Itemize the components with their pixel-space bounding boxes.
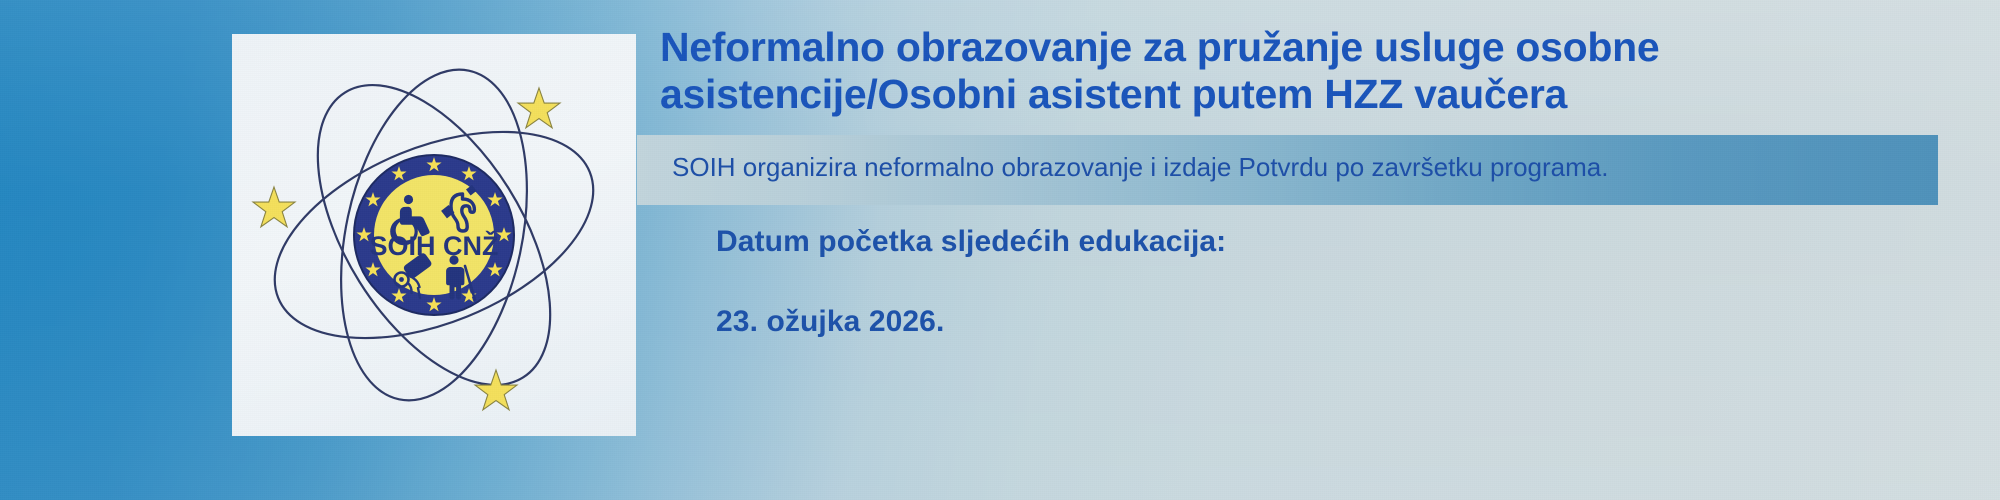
- orbit-star-left: [253, 187, 295, 227]
- orbit-star-top-right: [518, 88, 560, 128]
- logo-panel: SOIH CNŽ: [232, 34, 636, 436]
- logo-acronym: SOIH CNŽ: [369, 230, 498, 261]
- page-title-line-2: asistencije/Osobni asistent putem HZZ va…: [660, 71, 1950, 118]
- page-title-line-1: Neformalno obrazovanje za pružanje uslug…: [660, 24, 1950, 71]
- promo-banner: SOIH CNŽ Neformalno: [0, 0, 2000, 500]
- page-title: Neformalno obrazovanje za pružanje uslug…: [660, 24, 1950, 117]
- date-label: Datum početka sljedećih edukacija:: [716, 224, 1226, 260]
- logo-emblem: SOIH CNŽ: [354, 155, 514, 315]
- date-value: 23. ožujka 2026.: [716, 304, 944, 340]
- subtitle-text: SOIH organizira neformalno obrazovanje i…: [672, 152, 1922, 183]
- orbit-star-bottom: [475, 370, 517, 410]
- soih-cnz-logo: SOIH CNŽ: [232, 34, 636, 436]
